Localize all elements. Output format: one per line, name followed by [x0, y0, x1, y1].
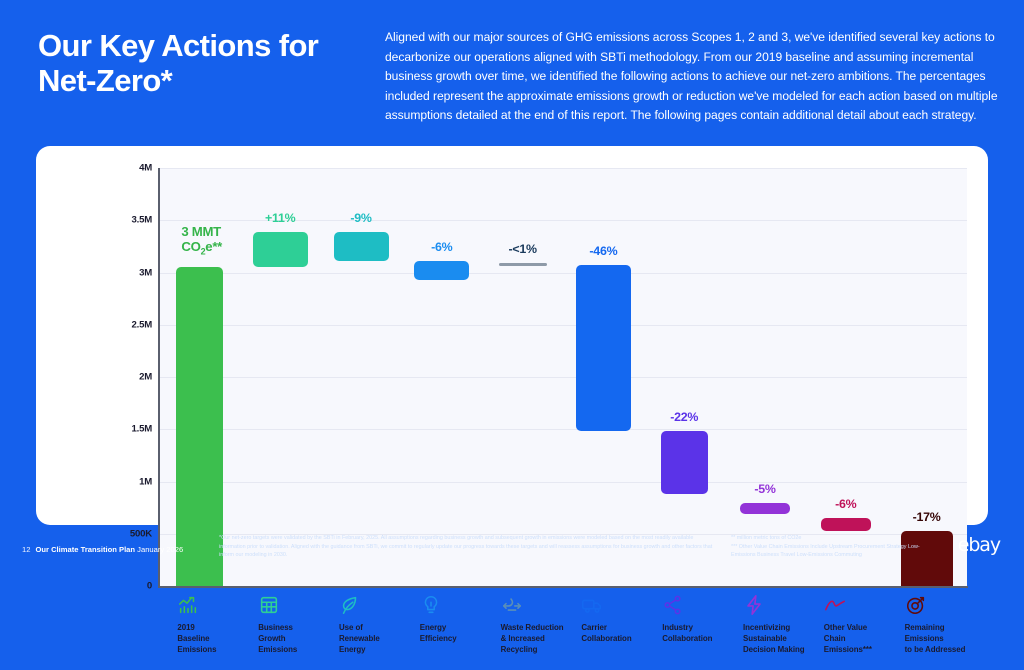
- y-axis-tick: 4M: [100, 163, 152, 174]
- recycle-icon: [501, 594, 585, 616]
- gridline: [159, 429, 967, 430]
- intro-paragraph: Aligned with our major sources of GHG em…: [385, 28, 1003, 126]
- footnote-mmt: ** million metric tons of CO2e: [731, 534, 941, 543]
- category-label: Other ValueChainEmissions***: [824, 623, 908, 655]
- category-label-group: Use ofRenewableEnergy: [339, 594, 423, 655]
- bar: [661, 431, 708, 494]
- category-label-group: IncentivizingSustainableDecision Making: [743, 594, 827, 655]
- gridline: [159, 325, 967, 326]
- y-axis-tick: 2.5M: [100, 319, 152, 330]
- footnote-secondary: ** million metric tons of CO2e *** Other…: [731, 534, 941, 560]
- gridline: [159, 273, 967, 274]
- y-axis-line: [158, 168, 160, 587]
- target-icon: [905, 594, 989, 616]
- bar: [576, 265, 631, 431]
- y-axis-tick: 0: [100, 581, 152, 592]
- y-axis-tick: 1M: [100, 476, 152, 487]
- y-axis-tick: 500K: [100, 528, 152, 539]
- category-label-group: 2019BaselineEmissions: [177, 594, 261, 655]
- footnote-value-chain: *** Other Value Chain Emissions Include …: [731, 543, 941, 561]
- bar-value-label: -6%: [431, 240, 452, 254]
- baseline-annotation: 3 MMTCO2e**: [181, 225, 222, 257]
- footer-doc-date: January 2026: [137, 545, 183, 554]
- bar-value-label: -46%: [589, 244, 617, 258]
- y-axis-tick: 1.5M: [100, 424, 152, 435]
- arc-curve-icon: [824, 594, 908, 616]
- gridline: [159, 377, 967, 378]
- footnote-primary: *Our net-zero targets were validated by …: [219, 534, 719, 560]
- x-axis-categories: 2019BaselineEmissionsBusinessGrowthEmiss…: [159, 594, 967, 670]
- x-axis-line: [158, 586, 968, 588]
- bar: [253, 232, 308, 268]
- bar-value-label: -6%: [835, 497, 856, 511]
- bar-chart-growth-icon: [177, 594, 261, 616]
- bar-value-label: -<1%: [508, 242, 536, 256]
- bar-value-label: +11%: [265, 211, 295, 225]
- category-label-group: BusinessGrowthEmissions: [258, 594, 342, 655]
- lightning-bolt-icon: [743, 594, 827, 616]
- gridline: [159, 168, 967, 169]
- chart-panel: 4M3.5M3M2.5M2M1.5M1M500K0 +11%-9%-6%-<1%…: [36, 146, 988, 525]
- category-label: IndustryCollaboration: [662, 623, 746, 645]
- category-label-group: Other ValueChainEmissions***: [824, 594, 908, 655]
- footer-doc-info: 12Our Climate Transition Plan January 20…: [22, 545, 183, 554]
- y-axis-tick-labels: 4M3.5M3M2.5M2M1.5M1M500K0: [92, 146, 152, 626]
- category-label-group: EnergyEfficiency: [420, 594, 504, 645]
- category-label: BusinessGrowthEmissions: [258, 623, 342, 655]
- bar: [334, 232, 389, 261]
- page-number: 12: [22, 545, 30, 554]
- bar: [176, 267, 223, 586]
- building-icon: [258, 594, 342, 616]
- gridline: [159, 482, 967, 483]
- bar: [414, 261, 469, 280]
- category-label: CarrierCollaboration: [581, 623, 665, 645]
- bar-value-label: -5%: [754, 482, 775, 496]
- bar-value-label: -17%: [913, 510, 941, 524]
- bar: [740, 503, 790, 513]
- lightbulb-icon: [420, 594, 504, 616]
- category-label: 2019BaselineEmissions: [177, 623, 261, 655]
- bar: [821, 518, 871, 531]
- category-label: RemainingEmissionsto be Addressed: [905, 623, 989, 655]
- category-label-group: Waste Reduction& IncreasedRecycling: [501, 594, 585, 655]
- footer-doc-title: Our Climate Transition Plan: [35, 545, 135, 554]
- category-label: EnergyEfficiency: [420, 623, 504, 645]
- ebay-logo: ebay: [958, 534, 1000, 556]
- bar-value-label: -22%: [670, 410, 698, 424]
- category-label: Use ofRenewableEnergy: [339, 623, 423, 655]
- bar-value-label: -9%: [350, 211, 371, 225]
- leaf-icon: [339, 594, 423, 616]
- page-title: Our Key Actions for Net-Zero*: [38, 28, 368, 98]
- category-label-group: CarrierCollaboration: [581, 594, 665, 645]
- y-axis-tick: 2M: [100, 372, 152, 383]
- category-label: IncentivizingSustainableDecision Making: [743, 623, 827, 655]
- y-axis-tick: 3M: [100, 267, 152, 278]
- category-label-group: RemainingEmissionsto be Addressed: [905, 594, 989, 655]
- y-axis-tick: 3.5M: [100, 215, 152, 226]
- bar: [499, 263, 547, 266]
- truck-icon: [581, 594, 665, 616]
- share-network-icon: [662, 594, 746, 616]
- category-label-group: IndustryCollaboration: [662, 594, 746, 645]
- category-label: Waste Reduction& IncreasedRecycling: [501, 623, 585, 655]
